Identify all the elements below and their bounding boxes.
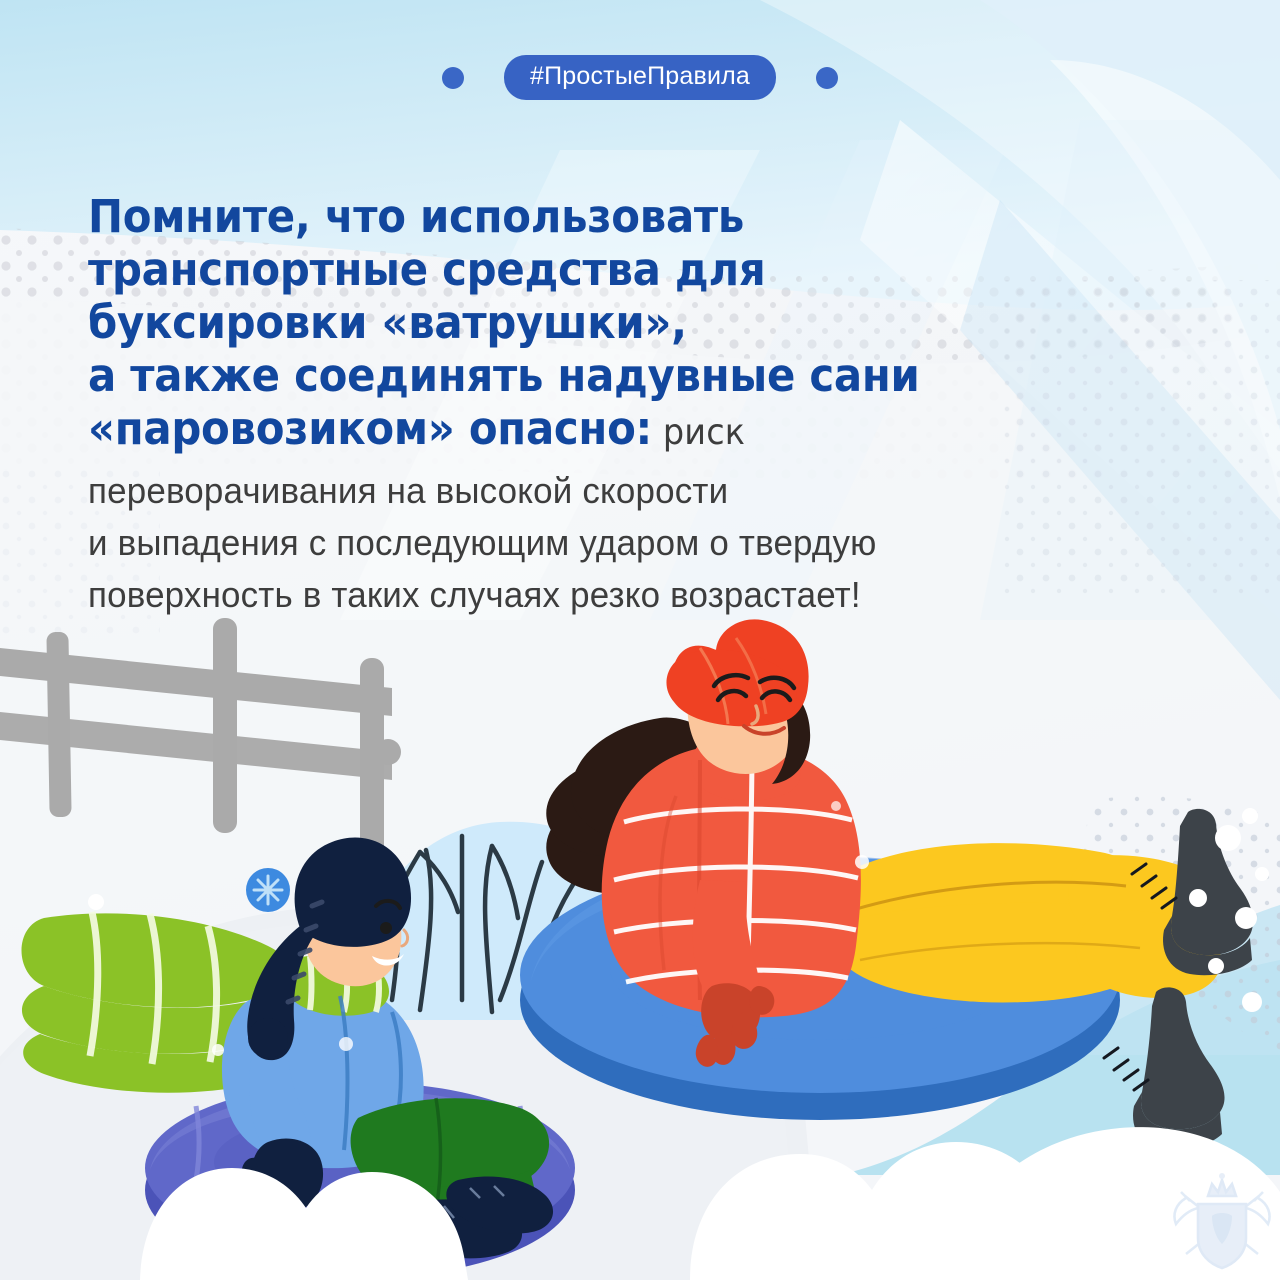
- text-block: Помните, что использовать транспортные с…: [88, 190, 1178, 621]
- headline-line-1: Помните, что использовать: [88, 190, 1102, 243]
- body-line-2: и выпадения с последующим ударом о тверд…: [88, 517, 1145, 569]
- body-line-1: переворачивания на высокой скорости: [88, 465, 1145, 517]
- body-text: переворачивания на высокой скорости и вы…: [88, 465, 1145, 621]
- headline-inline-tail: риск: [652, 412, 745, 453]
- headline-line-4: а также соединять надувные сани: [88, 349, 1102, 402]
- headline: Помните, что использовать транспортные с…: [88, 190, 1102, 459]
- body-line-3: поверхность в таких случаях резко возрас…: [88, 569, 1145, 621]
- hashtag-badge[interactable]: #ПростыеПравила: [504, 55, 776, 100]
- headline-line-5: «паровозиком» опасно: риск: [88, 402, 1102, 459]
- poster-root: #ПростыеПравила Помните, что использоват…: [0, 0, 1280, 1280]
- kid-hat-bobble: [248, 1018, 288, 1058]
- headline-line-5-bold: «паровозиком» опасно:: [88, 402, 652, 455]
- badge-dot-right: [816, 67, 838, 89]
- kid-pompom-lines: [254, 876, 282, 904]
- hashtag-badge-row: #ПростыеПравила: [0, 55, 1280, 100]
- headline-line-2: транспортные средства для: [88, 243, 1102, 296]
- badge-dot-left: [442, 67, 464, 89]
- headline-line-3: буксировки «ватрушки»,: [88, 296, 1102, 349]
- kid-eye: [380, 922, 392, 934]
